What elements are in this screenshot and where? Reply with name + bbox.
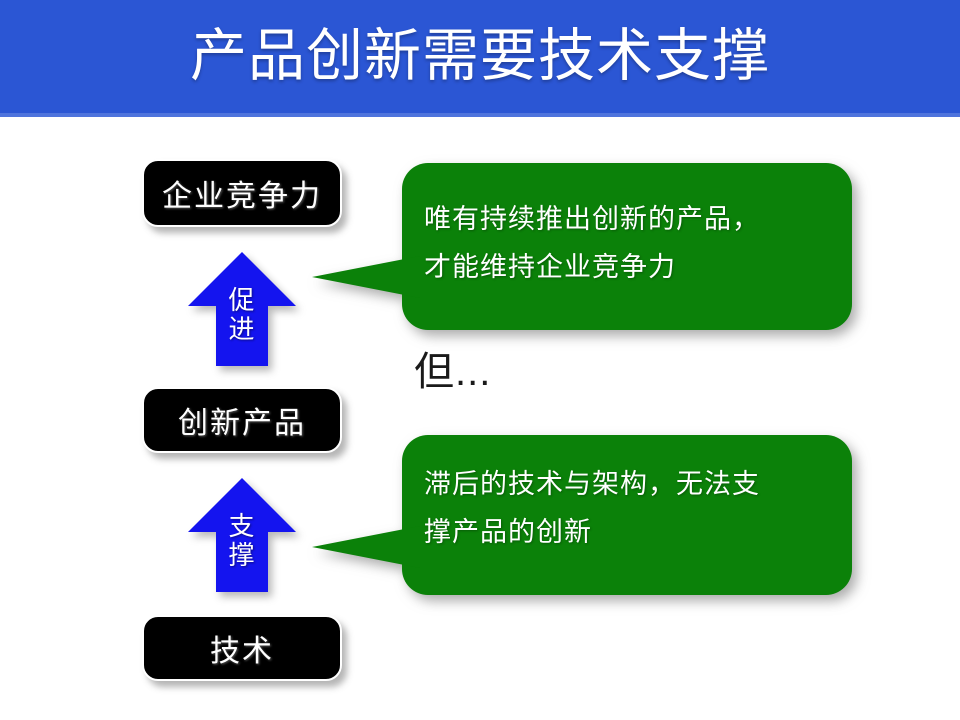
slide-title: 产品创新需要技术支撑 bbox=[0, 16, 960, 96]
callout-lag-text: 滞后的技术与架构，无法支 撑产品的创新 bbox=[424, 460, 844, 556]
connector-text-but: 但... bbox=[414, 344, 491, 400]
callout-lag-tail bbox=[312, 526, 420, 568]
callout-innovation: 唯有持续推出创新的产品， 才能维持企业竞争力 bbox=[312, 160, 852, 336]
up-arrow-support: 支撑 bbox=[186, 476, 298, 594]
up-arrow-icon bbox=[186, 476, 298, 594]
up-arrow-icon bbox=[186, 250, 298, 368]
callout-innovation-tail bbox=[312, 256, 420, 298]
box-label-innovative-product: 创新产品 bbox=[178, 398, 306, 442]
box-label-technology: 技术 bbox=[210, 626, 274, 670]
callout-innovation-line-1: 唯有持续推出创新的产品， bbox=[424, 195, 844, 243]
callout-innovation-text: 唯有持续推出创新的产品， 才能维持企业竞争力 bbox=[424, 195, 844, 291]
title-banner-underline bbox=[0, 113, 960, 117]
callout-innovation-line-2: 才能维持企业竞争力 bbox=[424, 243, 844, 291]
box-label-enterprise-competitiveness: 企业竞争力 bbox=[162, 171, 322, 215]
up-arrow-promote: 促进 bbox=[186, 250, 298, 368]
callout-lag-line-2: 撑产品的创新 bbox=[424, 508, 844, 556]
callout-lag-line-1: 滞后的技术与架构，无法支 bbox=[424, 460, 844, 508]
slide-canvas: 产品创新需要技术支撑 企业竞争力 促进 创新产品 支撑 技术 唯有持续推出创新的… bbox=[0, 0, 960, 720]
box-technology: 技术 bbox=[142, 615, 342, 681]
callout-lag: 滞后的技术与架构，无法支 撑产品的创新 bbox=[312, 432, 852, 608]
